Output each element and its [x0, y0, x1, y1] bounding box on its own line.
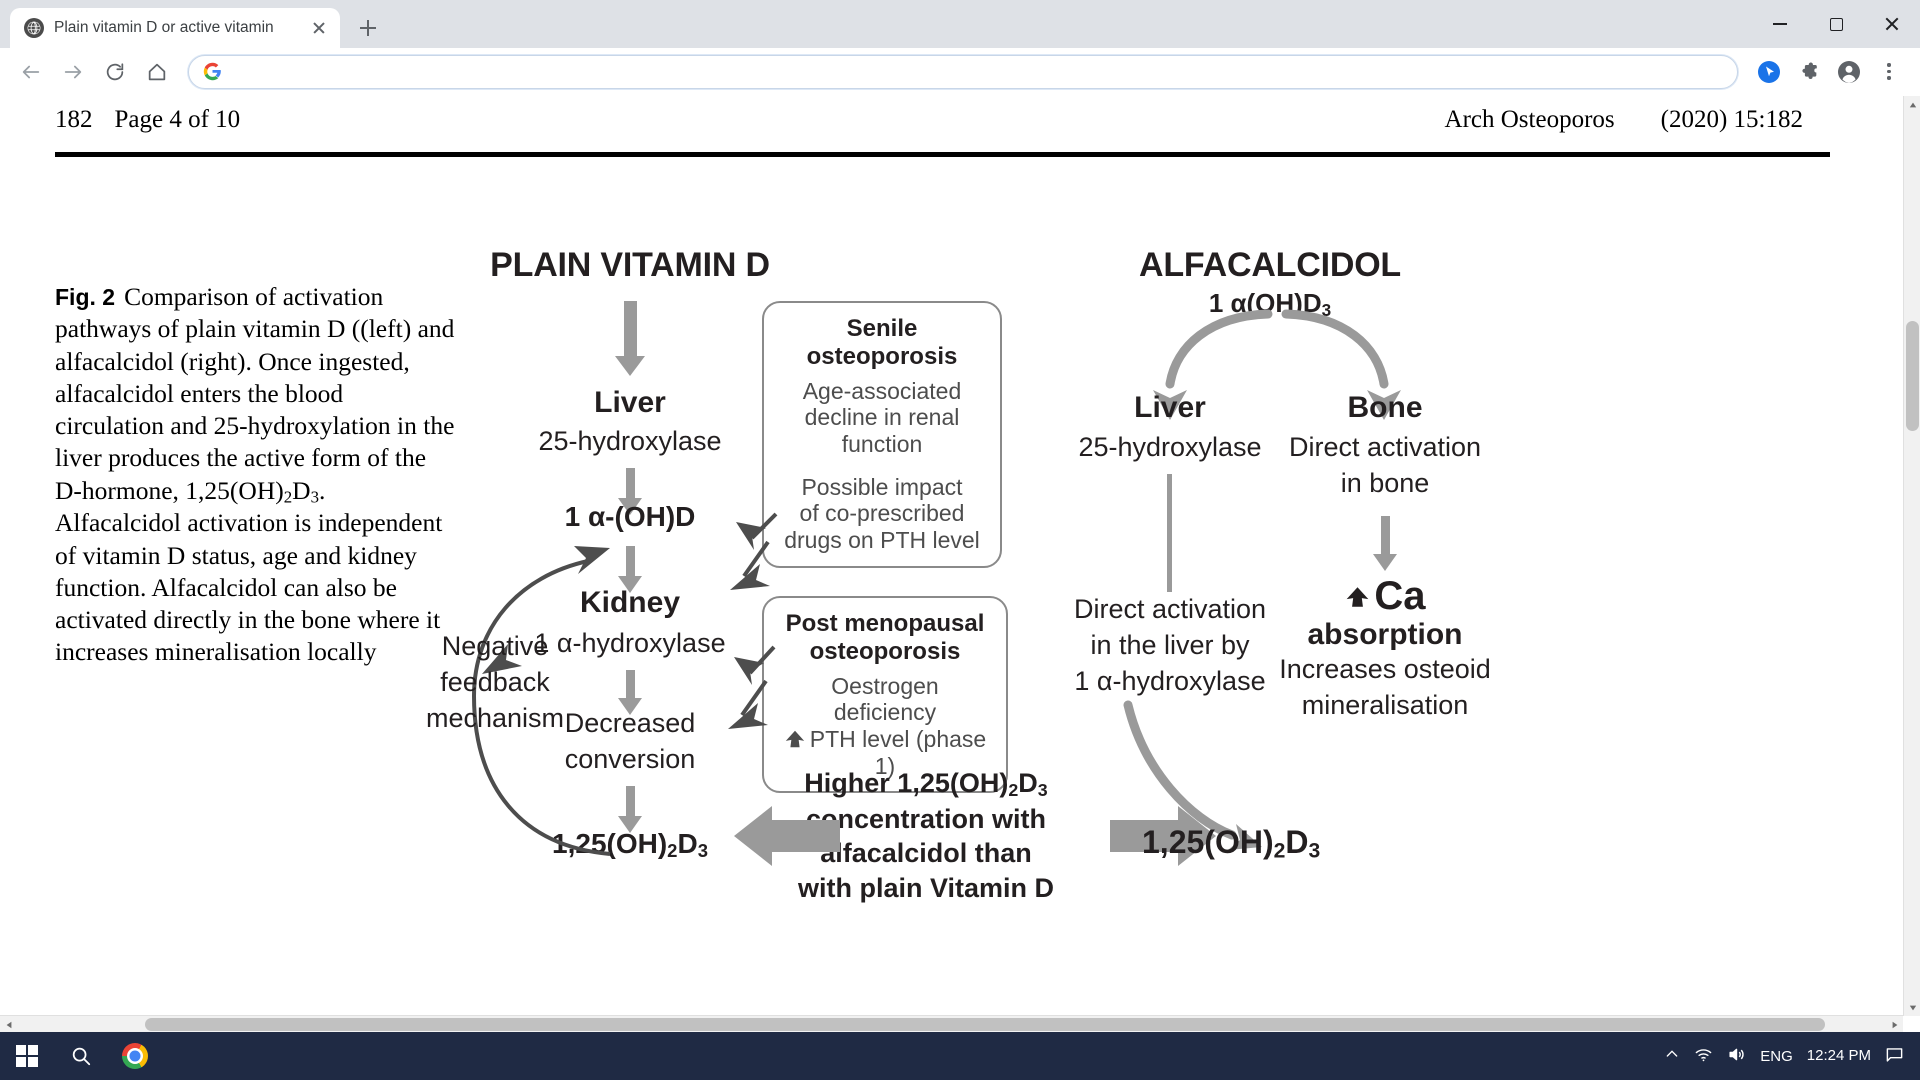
- search-icon[interactable]: [54, 1032, 108, 1080]
- arrow-bone-to-ca: [1373, 516, 1397, 571]
- senile-title-line1: Senile: [778, 315, 986, 343]
- page-indicator: Page 4 of 10: [115, 106, 241, 133]
- scroll-right-icon[interactable]: [1886, 1016, 1903, 1033]
- senile-body-line1: Age-associated: [778, 378, 986, 405]
- scroll-left-icon[interactable]: [0, 1016, 17, 1033]
- center-note-line1: Higher 1,25(OH)2D3: [798, 766, 1054, 802]
- right-step-liver: Liver: [1134, 391, 1206, 425]
- language-indicator[interactable]: ENG: [1760, 1048, 1793, 1065]
- caption-sub-2: 2: [284, 487, 292, 506]
- pm-title-line1: Post menopausal: [778, 610, 992, 638]
- page-folio: 182: [55, 106, 93, 133]
- reload-button[interactable]: [96, 53, 134, 91]
- new-tab-button[interactable]: [348, 8, 388, 48]
- ca-note-line1: Increases osteoid: [1279, 654, 1491, 685]
- postmenopausal-box-connector-arrows: [682, 641, 802, 751]
- right-liver-note-line2: in the liver by: [1090, 630, 1249, 661]
- left-step-liver: Liver: [594, 386, 666, 420]
- profile-avatar-icon[interactable]: [1830, 53, 1868, 91]
- center-note-line4: with plain Vitamin D: [798, 871, 1054, 906]
- three-dots-menu-icon[interactable]: [1870, 53, 1908, 91]
- journal-name: Arch Osteoporos: [1445, 106, 1615, 133]
- feedback-line1: Negative: [442, 631, 549, 662]
- right-liver-enzyme: 25-hydroxylase: [1078, 432, 1261, 463]
- journal-citation: (2020) 15:182: [1661, 106, 1803, 133]
- puzzle-piece-icon[interactable]: [1790, 53, 1828, 91]
- forward-button[interactable]: [54, 53, 92, 91]
- left-liver-enzyme: 25-hydroxylase: [538, 426, 721, 457]
- tab-close-icon[interactable]: [308, 17, 330, 39]
- senile-body-line2: decline in renal: [778, 404, 986, 431]
- senile-body2-line3: drugs on PTH level: [778, 527, 986, 554]
- home-button[interactable]: [138, 53, 176, 91]
- right-bone-line2: in bone: [1341, 468, 1430, 499]
- right-liver-note-line3: 1 α-hydroxylase: [1074, 666, 1265, 697]
- figure-2-diagram: PLAIN VITAMIN D Liver 25-hydroxylase 1 α…: [470, 246, 1890, 1006]
- window-close-button[interactable]: [1864, 0, 1920, 48]
- arrow-plainvitd-to-liver: [615, 301, 645, 376]
- figure-caption: Fig. 2Comparison of activation pathways …: [55, 281, 455, 669]
- vertical-scrollbar[interactable]: [1903, 96, 1920, 1016]
- header-rule: [55, 152, 1830, 157]
- scroll-up-icon[interactable]: [1904, 96, 1920, 113]
- browser-toolbar: [0, 48, 1920, 96]
- up-arrow-icon: [1344, 577, 1370, 603]
- journal-citation-group: Arch Osteoporos(2020) 15:182: [1445, 106, 1803, 134]
- page-folio-group: 182Page 4 of 10: [55, 106, 240, 134]
- clock[interactable]: 12:24 PM: [1807, 1047, 1871, 1064]
- ca-label: Ca: [1374, 574, 1425, 618]
- address-bar[interactable]: [188, 55, 1738, 89]
- journal-running-head: 182Page 4 of 10 Arch Osteoporos(2020) 15…: [55, 106, 1825, 152]
- page-viewport: 182Page 4 of 10 Arch Osteoporos(2020) 15…: [0, 96, 1920, 1016]
- figure-caption-text-2: D: [292, 476, 310, 505]
- notification-icon[interactable]: [1885, 1045, 1904, 1068]
- right-step-bone: Bone: [1348, 391, 1423, 425]
- right-liver-note-line1: Direct activation: [1074, 594, 1266, 625]
- tab-title: Plain vitamin D or active vitamin: [54, 19, 308, 37]
- ca-absorption-block: Ca absorption: [1308, 576, 1463, 652]
- senile-body-line3: function: [778, 431, 986, 458]
- liver-connector-line: [1167, 474, 1172, 592]
- back-button[interactable]: [12, 53, 50, 91]
- senile-body2-line2: of co-prescribed: [778, 500, 986, 527]
- pdf-page: 182Page 4 of 10 Arch Osteoporos(2020) 15…: [0, 96, 1892, 996]
- right-branch-heading: ALFACALCIDOL: [1139, 246, 1401, 285]
- right-bone-line1: Direct activation: [1289, 432, 1481, 463]
- minimize-button[interactable]: [1752, 0, 1808, 48]
- google-g-icon: [203, 62, 222, 81]
- globe-icon: [24, 18, 44, 38]
- windows-taskbar: ENG 12:24 PM: [0, 1032, 1920, 1080]
- horizontal-scrollbar[interactable]: [0, 1015, 1903, 1032]
- caption-sub-3: 3: [311, 487, 319, 506]
- system-tray: ENG 12:24 PM: [1664, 1045, 1920, 1068]
- vertical-scrollbar-thumb[interactable]: [1906, 321, 1919, 431]
- figure-caption-label: Fig. 2: [55, 284, 115, 310]
- share-cursor-icon[interactable]: [1750, 53, 1788, 91]
- left-branch-heading: PLAIN VITAMIN D: [490, 246, 770, 285]
- tab-strip: Plain vitamin D or active vitamin: [0, 0, 1920, 48]
- show-hidden-icons-icon[interactable]: [1664, 1046, 1680, 1066]
- scroll-down-icon[interactable]: [1904, 999, 1920, 1016]
- windows-start-icon[interactable]: [0, 1032, 54, 1080]
- ca-absorption-sub: absorption: [1308, 618, 1463, 652]
- window-controls: [1752, 0, 1920, 48]
- browser-tab[interactable]: Plain vitamin D or active vitamin: [10, 8, 340, 48]
- pm-body-line1: Oestrogen deficiency: [778, 673, 992, 726]
- right-product-calcitriol: 1,25(OH)2D3: [1142, 824, 1320, 864]
- figure-caption-text-1: Comparison of activation pathways of pla…: [55, 282, 454, 505]
- ca-note-line2: mineralisation: [1302, 690, 1469, 721]
- volume-icon[interactable]: [1727, 1045, 1746, 1068]
- senile-title-line2: osteoporosis: [778, 343, 986, 371]
- toolbar-actions: [1750, 53, 1908, 91]
- network-icon[interactable]: [1694, 1045, 1713, 1068]
- browser-window: Plain vitamin D or active vitamin: [0, 0, 1920, 1080]
- feedback-line3: mechanism: [426, 703, 564, 734]
- chrome-icon[interactable]: [108, 1032, 162, 1080]
- horizontal-scrollbar-thumb[interactable]: [145, 1018, 1825, 1031]
- maximize-button[interactable]: [1808, 0, 1864, 48]
- feedback-line2: feedback: [440, 667, 550, 698]
- pm-title-line2: osteoporosis: [778, 638, 992, 666]
- fat-arrow-left: [732, 806, 842, 866]
- senile-body2-line1: Possible impact: [778, 474, 986, 501]
